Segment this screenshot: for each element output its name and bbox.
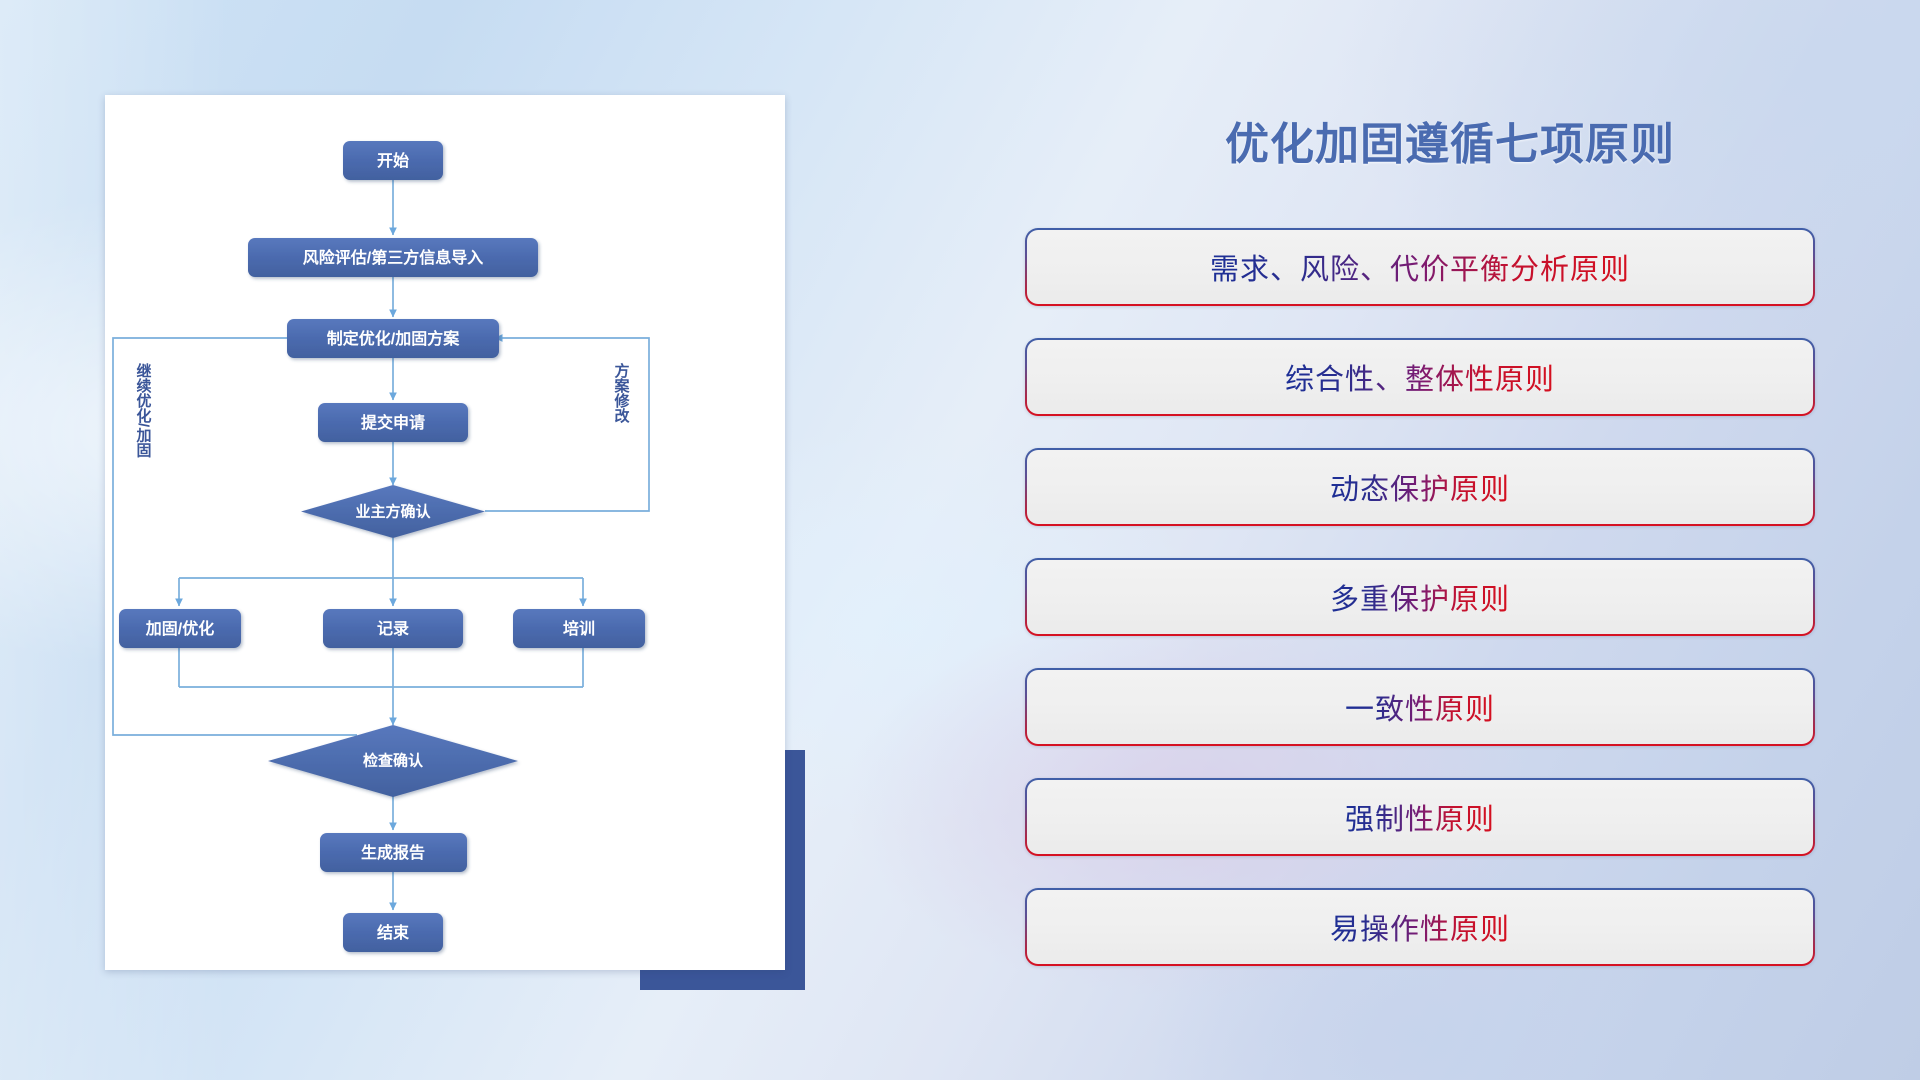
flow-node-end[interactable]: 结束 (343, 913, 443, 952)
flow-node-generate-report[interactable]: 生成报告 (320, 833, 467, 872)
principle-border-3: 动态保护原则 (1025, 448, 1815, 526)
flow-node-generate-report-label: 生成报告 (361, 843, 425, 862)
principle-item-4[interactable]: 多重保护原则 (1025, 558, 1815, 636)
principle-label-1: 需求、风险、代价平衡分析原则 (1210, 246, 1630, 288)
flow-node-record-label: 记录 (377, 620, 409, 638)
flow-node-reinforce-optimize-label: 加固/优化 (145, 619, 214, 638)
principle-label-7: 易操作性原则 (1330, 906, 1510, 948)
principle-item-5[interactable]: 一致性原则 (1025, 668, 1815, 746)
flow-edge-label-continue-optimize: 继续优化/加固 (135, 362, 153, 458)
flow-node-make-plan[interactable]: 制定优化/加固方案 (287, 319, 499, 358)
flow-node-owner-confirm[interactable]: 业主方确认 (301, 485, 485, 538)
flow-node-start-label: 开始 (377, 151, 409, 170)
principles-title: 优化加固遵循七项原则 (1000, 108, 1900, 172)
flowchart-panel: 开始 风险评估/第三方信息导入 制定优化/加固方案 提交申请 业主方确认 加固/… (0, 0, 900, 1080)
flow-edge-label-plan-revision: 方案修改 (613, 362, 631, 424)
principle-border-4: 多重保护原则 (1025, 558, 1815, 636)
flow-node-submit-application-label: 提交申请 (361, 413, 425, 432)
flow-node-reinforce-optimize[interactable]: 加固/优化 (119, 609, 241, 648)
principle-label-6: 强制性原则 (1345, 796, 1495, 838)
principle-item-6[interactable]: 强制性原则 (1025, 778, 1815, 856)
flow-node-owner-confirm-label: 业主方确认 (355, 503, 431, 521)
principles-panel: 优化加固遵循七项原则 需求、风险、代价平衡分析原则 综合性、整体性原则 动态保护… (1000, 0, 1920, 1080)
principle-inner-6: 强制性原则 (1027, 780, 1813, 854)
flow-node-record[interactable]: 记录 (323, 609, 463, 648)
flow-node-end-label: 结束 (376, 923, 410, 942)
principle-item-7[interactable]: 易操作性原则 (1025, 888, 1815, 966)
principle-border-7: 易操作性原则 (1025, 888, 1815, 966)
principle-label-4: 多重保护原则 (1330, 576, 1510, 618)
principle-inner-7: 易操作性原则 (1027, 890, 1813, 964)
principle-border-5: 一致性原则 (1025, 668, 1815, 746)
principle-border-1: 需求、风险、代价平衡分析原则 (1025, 228, 1815, 306)
flow-node-start[interactable]: 开始 (343, 141, 443, 180)
principle-label-5: 一致性原则 (1345, 686, 1495, 728)
principle-border-6: 强制性原则 (1025, 778, 1815, 856)
flow-node-make-plan-label: 制定优化/加固方案 (327, 329, 460, 348)
principle-inner-4: 多重保护原则 (1027, 560, 1813, 634)
flowchart-diagram: 开始 风险评估/第三方信息导入 制定优化/加固方案 提交申请 业主方确认 加固/… (105, 95, 785, 970)
flow-connectors (113, 180, 649, 910)
flow-node-training-label: 培训 (563, 619, 595, 638)
principle-inner-2: 综合性、整体性原则 (1027, 340, 1813, 414)
principle-item-2[interactable]: 综合性、整体性原则 (1025, 338, 1815, 416)
principle-inner-5: 一致性原则 (1027, 670, 1813, 744)
principle-inner-3: 动态保护原则 (1027, 450, 1813, 524)
flow-node-risk-assessment-label: 风险评估/第三方信息导入 (303, 248, 483, 267)
flow-node-training[interactable]: 培训 (513, 609, 645, 648)
principle-label-3: 动态保护原则 (1330, 466, 1510, 508)
principle-label-2: 综合性、整体性原则 (1285, 356, 1555, 398)
principles-list: 需求、风险、代价平衡分析原则 综合性、整体性原则 动态保护原则 多重保护原则 (1025, 228, 1815, 998)
principle-border-2: 综合性、整体性原则 (1025, 338, 1815, 416)
flow-node-submit-application[interactable]: 提交申请 (318, 403, 468, 442)
principle-item-3[interactable]: 动态保护原则 (1025, 448, 1815, 526)
principle-inner-1: 需求、风险、代价平衡分析原则 (1027, 230, 1813, 304)
principle-item-1[interactable]: 需求、风险、代价平衡分析原则 (1025, 228, 1815, 306)
flow-node-check-confirm-label: 检查确认 (363, 752, 424, 770)
flow-node-risk-assessment[interactable]: 风险评估/第三方信息导入 (248, 238, 538, 277)
